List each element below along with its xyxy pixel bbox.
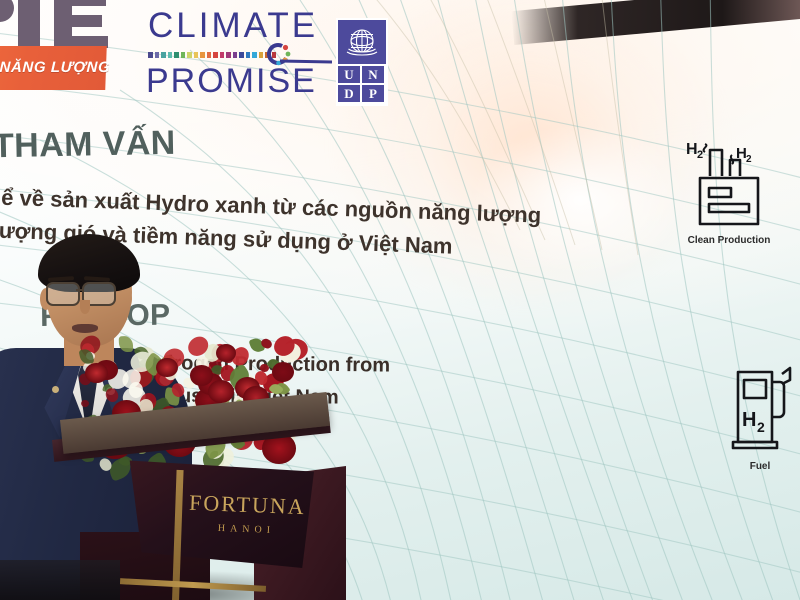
rose-bloom xyxy=(81,400,90,408)
clean-production-caption: Clean Production xyxy=(672,235,786,246)
sdg-dash xyxy=(174,52,179,58)
venue-nameplate: FORTUNA HANOI xyxy=(171,491,322,538)
sdg-dash xyxy=(239,52,244,58)
climate-promise-logo: CLIMATE PROMISE xyxy=(144,2,332,114)
venue-name: FORTUNA xyxy=(172,491,323,519)
undp-letter-n: N xyxy=(362,66,384,83)
factory-icon: H 2 H 2 xyxy=(672,136,786,228)
institute-logo-bar: IỆN NĂNG LƯỢNG xyxy=(0,46,107,90)
sdg-dash xyxy=(181,52,186,58)
sdg-dash xyxy=(200,52,205,58)
climate-promise-line1: CLIMATE xyxy=(148,8,318,43)
rose-bloom xyxy=(190,365,213,386)
undp-letter-grid: U N D P xyxy=(338,66,386,104)
conference-photo: IỆN NĂNG LƯỢNG CLIMATE PROMISE xyxy=(0,0,800,600)
clean-production-pictogram: H 2 H 2 Clean Production xyxy=(672,136,786,246)
sdg-color-dashes xyxy=(148,52,276,60)
rose-bloom xyxy=(272,362,295,383)
undp-letter-d: D xyxy=(338,85,360,102)
sdg-dash xyxy=(233,52,238,58)
undp-logo: U N D P xyxy=(336,18,388,106)
undp-letter-u: U xyxy=(338,66,360,83)
sdg-dash xyxy=(161,52,166,58)
sdg-dash xyxy=(194,52,199,58)
vietnamese-heading: O THAM VẤN xyxy=(0,124,176,167)
floor-shadow xyxy=(0,560,120,600)
rose-bloom xyxy=(208,380,234,403)
speaker-nose xyxy=(80,300,90,314)
foliage-leaf xyxy=(118,336,133,352)
sdg-dash xyxy=(213,52,218,58)
svg-text:2: 2 xyxy=(757,419,765,435)
sdg-dash xyxy=(168,52,173,58)
undp-letter-p: P xyxy=(362,85,384,102)
fuel-caption: Fuel xyxy=(724,461,796,472)
fuel-pictogram: H 2 Fuel xyxy=(724,358,796,472)
svg-text:2: 2 xyxy=(746,154,752,165)
sdg-dash xyxy=(187,52,192,58)
svg-text:H: H xyxy=(742,409,756,431)
sdg-dash xyxy=(226,52,231,58)
fuel-pump-icon: H 2 xyxy=(724,358,796,454)
un-globe-icon xyxy=(338,20,386,64)
sdg-dash xyxy=(148,52,153,58)
white-bloom xyxy=(128,381,143,397)
eyeglass-bridge xyxy=(76,289,84,291)
speaker-lapel-pin xyxy=(52,386,59,393)
sdg-dash xyxy=(259,52,264,58)
institute-tagline: IỆN NĂNG LƯỢNG xyxy=(0,59,111,76)
sdg-dash xyxy=(207,52,212,58)
institute-of-energy-logo: IỆN NĂNG LƯỢNG xyxy=(0,0,116,88)
climate-promise-line2: PROMISE xyxy=(146,64,317,98)
sdg-dash xyxy=(246,52,251,58)
eyeglass-lens-left xyxy=(46,282,80,306)
sdg-dash xyxy=(155,52,160,58)
svg-text:2: 2 xyxy=(697,149,703,161)
sdg-dash xyxy=(252,52,257,58)
svg-text:H: H xyxy=(686,141,698,158)
sdg-dash xyxy=(220,52,225,58)
rose-bloom xyxy=(85,363,108,384)
